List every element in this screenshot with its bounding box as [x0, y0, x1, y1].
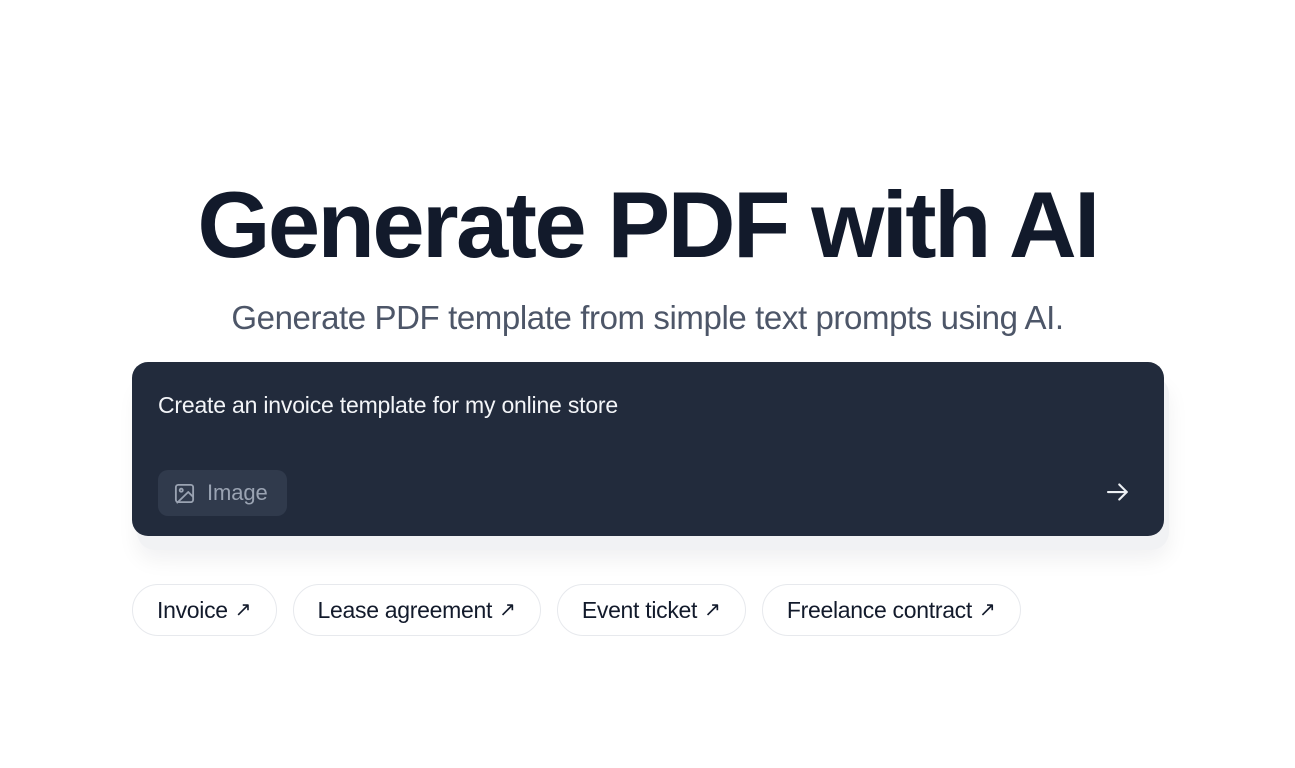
prompt-input[interactable]: Create an invoice template for my online…: [158, 390, 1138, 420]
submit-prompt-button[interactable]: [1096, 473, 1140, 513]
page-title: Generate PDF with AI: [0, 169, 1295, 281]
suggestion-chips: Invoice ↗ Lease agreement ↗ Event ticket…: [132, 584, 1172, 636]
arrow-up-right-icon: ↗: [979, 600, 996, 620]
suggestion-chip-freelance-contract[interactable]: Freelance contract ↗: [762, 584, 1021, 636]
suggestion-chip-label: Event ticket: [582, 599, 697, 622]
prompt-composer: Create an invoice template for my online…: [132, 362, 1164, 536]
page-root: Generate PDF with AI Generate PDF templa…: [0, 0, 1295, 768]
attach-image-button[interactable]: Image: [158, 470, 287, 516]
arrow-right-icon: [1103, 477, 1133, 510]
image-icon: [173, 482, 196, 505]
arrow-up-right-icon: ↗: [704, 600, 721, 620]
attach-image-label: Image: [207, 482, 268, 504]
prompt-input-container[interactable]: Create an invoice template for my online…: [132, 362, 1164, 536]
composer-toolbar: Image: [158, 470, 1144, 516]
suggestion-chip-label: Freelance contract: [787, 599, 972, 622]
suggestion-chip-label: Invoice: [157, 599, 228, 622]
arrow-up-right-icon: ↗: [499, 600, 516, 620]
page-subtitle: Generate PDF template from simple text p…: [0, 295, 1295, 341]
suggestion-chip-lease-agreement[interactable]: Lease agreement ↗: [293, 584, 541, 636]
suggestion-chip-event-ticket[interactable]: Event ticket ↗: [557, 584, 746, 636]
suggestion-chip-label: Lease agreement: [318, 599, 493, 622]
arrow-up-right-icon: ↗: [235, 600, 252, 620]
suggestion-chip-invoice[interactable]: Invoice ↗: [132, 584, 277, 636]
